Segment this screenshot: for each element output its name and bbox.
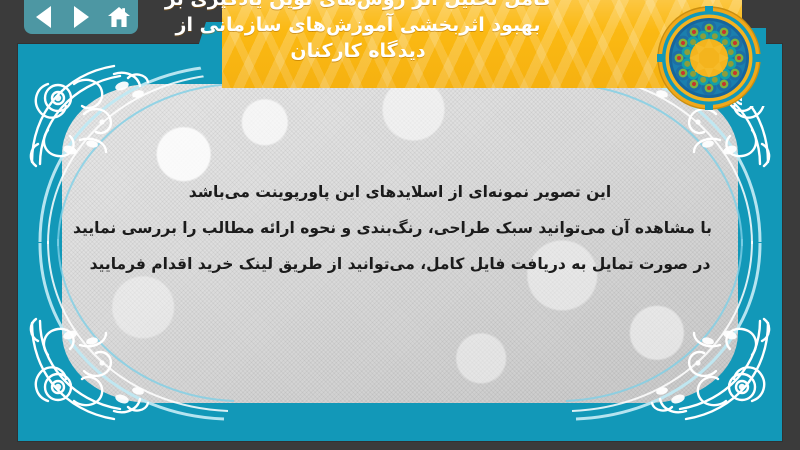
body-line-3: در صورت تمایل به دریافت فایل کامل، می‌تو… bbox=[88, 246, 712, 282]
home-button[interactable] bbox=[106, 4, 132, 30]
previous-button[interactable] bbox=[30, 4, 56, 30]
home-icon bbox=[107, 6, 131, 28]
triangle-right-icon bbox=[74, 6, 89, 28]
triangle-left-icon bbox=[36, 6, 51, 28]
body-line-2: با مشاهده آن می‌توانید سبک طراحی، رنگ‌بن… bbox=[88, 210, 712, 246]
body-line-1: این تصویر نمونه‌ای از اسلایدهای این پاور… bbox=[88, 174, 712, 210]
slide-navigation-bar[interactable] bbox=[24, 0, 138, 34]
next-button[interactable] bbox=[68, 4, 94, 30]
title-line-3: دیدگاه کارکنان bbox=[0, 38, 716, 64]
slide-body-text: این تصویر نمونه‌ای از اسلایدهای این پاور… bbox=[88, 174, 712, 282]
slide-viewer: این تصویر نمونه‌ای از اسلایدهای این پاور… bbox=[0, 0, 800, 450]
persian-mandala-ornament-icon bbox=[657, 6, 761, 110]
